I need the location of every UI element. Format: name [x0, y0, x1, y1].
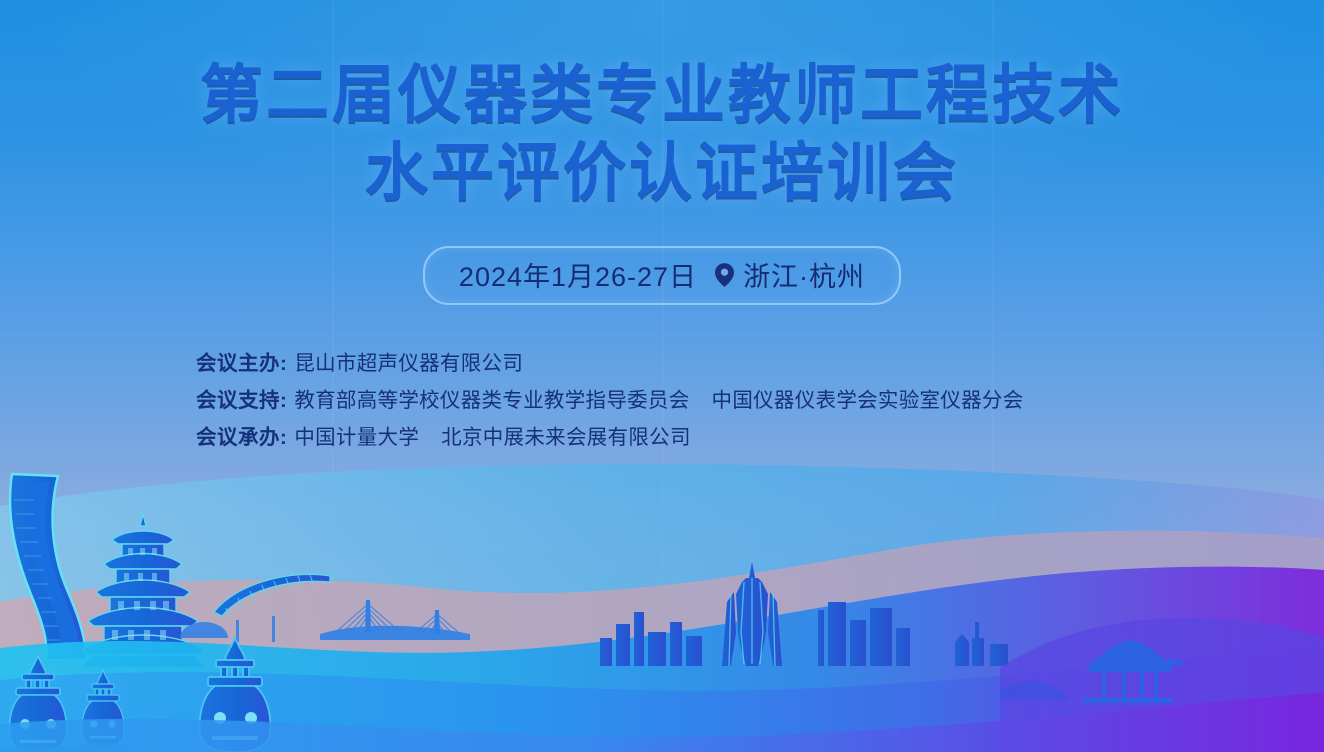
organizer-value: 中国计量大学: [294, 419, 419, 456]
organizer-row: 会议支持: 教育部高等学校仪器类专业教学指导委员会 中国仪器仪表学会实验室仪器分…: [196, 382, 1324, 419]
conference-banner: 第二届仪器类专业教师工程技术 水平评价认证培训会 2024年1月26-27日 浙…: [0, 0, 1324, 752]
conference-date: 2024年1月26-27日: [459, 255, 697, 294]
organizer-value: 教育部高等学校仪器类专业教学指导委员会: [294, 382, 689, 419]
banner-content: 第二届仪器类专业教师工程技术 水平评价认证培训会 2024年1月26-27日 浙…: [0, 0, 1324, 456]
organizer-label: 会议承办:: [196, 419, 287, 456]
organizer-label: 会议主办:: [196, 345, 287, 382]
organizer-value: 中国仪器仪表学会实验室仪器分会: [712, 382, 1024, 419]
scenery-illustration: [0, 452, 1324, 752]
conference-location: 浙江·杭州: [715, 255, 865, 294]
location-pin-icon: [715, 263, 734, 287]
organizer-values: 昆山市超声仪器有限公司: [294, 345, 523, 382]
organizer-values: 教育部高等学校仪器类专业教学指导委员会 中国仪器仪表学会实验室仪器分会: [294, 382, 1023, 419]
organizer-row: 会议主办: 昆山市超声仪器有限公司: [196, 345, 1324, 382]
meta-pill-wrap: 2024年1月26-27日 浙江·杭州: [0, 246, 1324, 305]
location-label: 浙江·杭州: [743, 255, 865, 294]
organizer-values: 中国计量大学 北京中展未来会展有限公司: [294, 419, 690, 456]
organizer-label: 会议支持:: [196, 382, 287, 419]
date-location-pill: 2024年1月26-27日 浙江·杭州: [423, 246, 901, 305]
page-title-line1: 第二届仪器类专业教师工程技术: [0, 0, 1324, 132]
organizer-row: 会议承办: 中国计量大学 北京中展未来会展有限公司: [196, 419, 1324, 456]
page-title-line2: 水平评价认证培训会: [0, 132, 1324, 210]
organizer-value: 昆山市超声仪器有限公司: [294, 345, 523, 382]
organizer-value: 北京中展未来会展有限公司: [441, 419, 691, 456]
organizer-list: 会议主办: 昆山市超声仪器有限公司 会议支持: 教育部高等学校仪器类专业教学指导…: [196, 345, 1324, 456]
